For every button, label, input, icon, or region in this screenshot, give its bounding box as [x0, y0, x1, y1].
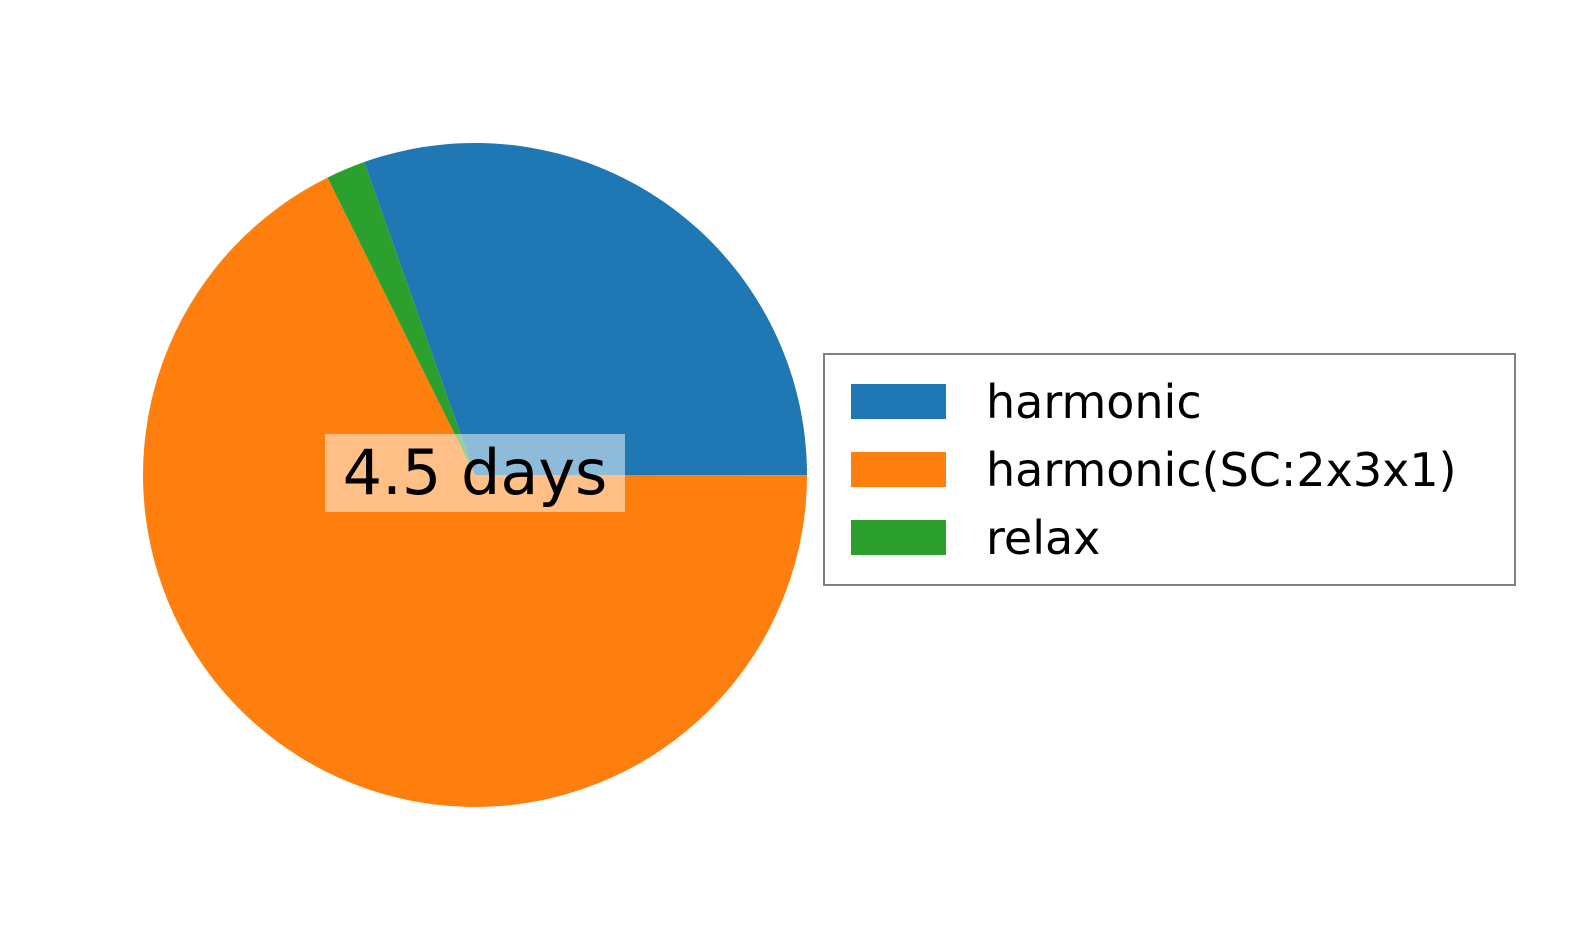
legend-item-label: harmonic — [986, 379, 1202, 425]
legend-color-swatch — [851, 520, 946, 555]
pie-center-total-label: 4.5 days — [325, 434, 625, 512]
legend-item[interactable]: harmonic(SC:2x3x1) — [851, 436, 1514, 504]
legend-color-swatch — [851, 384, 946, 419]
chart-legend: harmonicharmonic(SC:2x3x1)relax — [823, 353, 1516, 586]
legend-color-swatch — [851, 452, 946, 487]
legend-item-label: harmonic(SC:2x3x1) — [986, 447, 1457, 493]
legend-item[interactable]: relax — [851, 504, 1514, 572]
legend-item[interactable]: harmonic — [851, 368, 1514, 436]
pie-chart-figure: 4.5 days harmonicharmonic(SC:2x3x1)relax — [0, 0, 1584, 951]
legend-item-label: relax — [986, 515, 1100, 561]
